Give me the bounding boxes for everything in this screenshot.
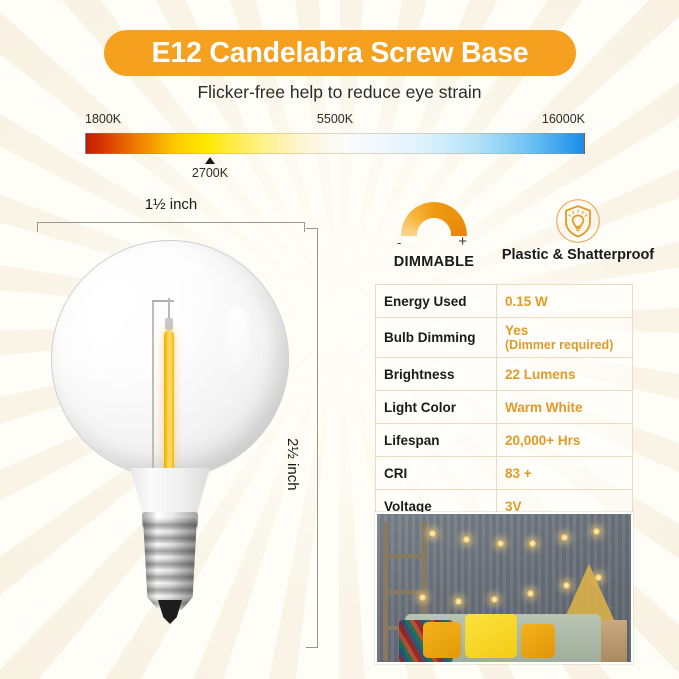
spec-value-main: 20,000+ Hrs [505, 433, 580, 448]
kelvin-marker-label: 2700K [192, 166, 228, 180]
shield-bulb-icon [555, 198, 601, 244]
photo-string-bulb [561, 534, 568, 541]
photo-string-bulb [463, 536, 470, 543]
photo-pillow [423, 622, 461, 658]
spec-value: 83 + [497, 457, 633, 490]
spec-label: Bulb Dimming [376, 318, 497, 358]
dimmer-arc-icon [401, 202, 467, 236]
kelvin-mid-label: 5500K [317, 112, 353, 126]
spec-value-note: (Dimmer required) [505, 338, 624, 352]
led-filament [164, 330, 174, 476]
table-row: Bulb Dimming Yes (Dimmer required) [376, 318, 633, 358]
kelvin-label-row: 1800K 5500K 16000K [85, 112, 585, 130]
specification-table: Energy Used 0.15 W Bulb Dimming Yes (Dim… [375, 284, 633, 523]
spec-value: 20,000+ Hrs [497, 424, 633, 457]
photo-string-bulb [429, 530, 436, 537]
light-bulb-illustration [34, 240, 306, 650]
feature-dimmable-label: DIMMABLE [372, 254, 496, 270]
globe-highlight-right [224, 306, 250, 376]
page-subtitle: Flicker-free help to reduce eye strain [0, 82, 679, 103]
specification-table-body: Energy Used 0.15 W Bulb Dimming Yes (Dim… [376, 285, 633, 523]
feature-shatterproof: Plastic & Shatterproof [496, 198, 660, 263]
dimmer-minus-sign: - [397, 235, 401, 250]
photo-string-bulb [529, 540, 536, 547]
base-contact-tip [158, 600, 182, 624]
photo-pillow [465, 614, 517, 658]
width-dimension-bracket [37, 222, 305, 232]
photo-string-bulb [497, 540, 504, 547]
lifestyle-photo [375, 512, 633, 664]
kelvin-min-label: 1800K [85, 112, 121, 126]
photo-string-bulb [491, 596, 498, 603]
kelvin-marker-triangle-icon [205, 157, 215, 164]
filament-wire-top [152, 300, 174, 302]
kelvin-gradient-bar [85, 133, 585, 154]
spec-value: 22 Lumens [497, 358, 633, 391]
spec-value-main: Yes [505, 323, 528, 338]
feature-dimmable: - + DIMMABLE [372, 198, 496, 270]
feature-icon-row: - + DIMMABLE Plastic & Shatter [372, 198, 660, 276]
spec-label: CRI [376, 457, 497, 490]
spec-value: 0.15 W [497, 285, 633, 318]
color-temperature-scale: 1800K 5500K 16000K 2700K [85, 112, 585, 187]
kelvin-max-label: 16000K [542, 112, 585, 126]
photo-string-bulb [593, 528, 600, 535]
dimmer-plus-sign: + [458, 233, 467, 250]
filament-cap-top [165, 318, 173, 330]
table-row: CRI 83 + [376, 457, 633, 490]
spec-value-main: 22 Lumens [505, 367, 576, 382]
table-row: Brightness 22 Lumens [376, 358, 633, 391]
spec-value: Yes (Dimmer required) [497, 318, 633, 358]
spec-label: Light Color [376, 391, 497, 424]
spec-label: Energy Used [376, 285, 497, 318]
table-row: Lifespan 20,000+ Hrs [376, 424, 633, 457]
spec-label: Brightness [376, 358, 497, 391]
page-title: E12 Candelabra Screw Base [104, 30, 576, 76]
spec-value-main: Warm White [505, 400, 583, 415]
table-row: Light Color Warm White [376, 391, 633, 424]
bulb-width-label: 1½ inch [37, 196, 305, 213]
infographic-page: E12 Candelabra Screw Base Flicker-free h… [0, 0, 679, 679]
bulb-dimension-panel: 1½ inch 2½ inch [20, 196, 360, 666]
photo-string-bulb [527, 590, 534, 597]
e12-screw-base [143, 518, 197, 610]
table-row: Energy Used 0.15 W [376, 285, 633, 318]
spec-value-main: 83 + [505, 466, 532, 481]
spec-value: Warm White [497, 391, 633, 424]
spec-label: Lifespan [376, 424, 497, 457]
photo-string-bulb [455, 598, 462, 605]
photo-pillow [521, 624, 555, 658]
globe-highlight-left [86, 280, 128, 368]
feature-shatterproof-label: Plastic & Shatterproof [496, 247, 660, 263]
dimmer-sign-row: - + [392, 237, 476, 251]
height-dimension-bracket [306, 228, 318, 648]
spec-value-main: 0.15 W [505, 294, 548, 309]
photo-string-bulb [419, 594, 426, 601]
